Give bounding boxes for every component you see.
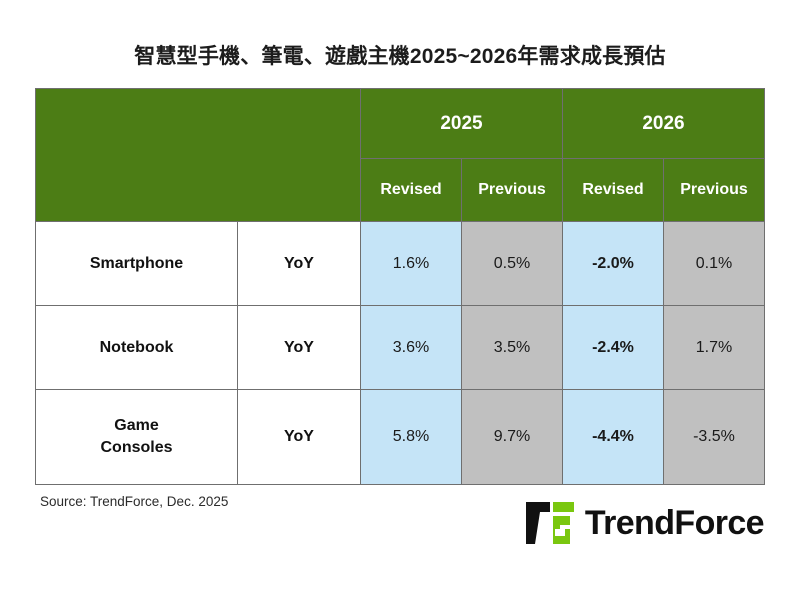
row-label-notebook: Notebook [36, 306, 238, 390]
forecast-table: 2025 2026 Revised Previous Revised Previ… [35, 88, 765, 485]
table-row: Game Consoles YoY 5.8% 9.7% -4.4% -3.5% [36, 390, 765, 485]
forecast-table-container: 2025 2026 Revised Previous Revised Previ… [35, 88, 764, 485]
row-metric-game-consoles: YoY [238, 390, 361, 485]
row-label-smartphone: Smartphone [36, 222, 238, 306]
page-title: 智慧型手機、筆電、遊戲主機2025~2026年需求成長預估 [0, 40, 800, 70]
header-2026-previous: Previous [664, 159, 765, 222]
cell-smartphone-2025-previous: 0.5% [462, 222, 563, 306]
cell-smartphone-2026-revised: -2.0% [563, 222, 664, 306]
source-note: Source: TrendForce, Dec. 2025 [40, 494, 228, 509]
cell-game-consoles-2026-revised: -4.4% [563, 390, 664, 485]
cell-notebook-2025-previous: 3.5% [462, 306, 563, 390]
cell-notebook-2025-revised: 3.6% [361, 306, 462, 390]
cell-game-consoles-2025-revised: 5.8% [361, 390, 462, 485]
cell-game-consoles-2025-previous: 9.7% [462, 390, 563, 485]
cell-notebook-2026-revised: -2.4% [563, 306, 664, 390]
table-row: Notebook YoY 3.6% 3.5% -2.4% 1.7% [36, 306, 765, 390]
header-row-years: 2025 2026 [36, 89, 765, 159]
header-2025-previous: Previous [462, 159, 563, 222]
cell-smartphone-2025-revised: 1.6% [361, 222, 462, 306]
trendforce-logo-mark-icon [524, 498, 576, 548]
trendforce-wordmark: TrendForce [585, 506, 764, 540]
row-metric-notebook: YoY [238, 306, 361, 390]
header-2025-revised: Revised [361, 159, 462, 222]
header-corner-blank [36, 89, 361, 222]
table-header: 2025 2026 Revised Previous Revised Previ… [36, 89, 765, 222]
table-body: Smartphone YoY 1.6% 0.5% -2.0% 0.1% Note… [36, 222, 765, 485]
row-label-game-consoles: Game Consoles [36, 390, 238, 485]
trendforce-logo: TrendForce [524, 498, 764, 548]
row-label-line-1: Game [114, 417, 158, 434]
header-year-2026: 2026 [563, 89, 765, 159]
slide-canvas: 智慧型手機、筆電、遊戲主機2025~2026年需求成長預估 2025 2026 … [0, 0, 800, 600]
row-metric-smartphone: YoY [238, 222, 361, 306]
cell-game-consoles-2026-previous: -3.5% [664, 390, 765, 485]
table-row: Smartphone YoY 1.6% 0.5% -2.0% 0.1% [36, 222, 765, 306]
header-2026-revised: Revised [563, 159, 664, 222]
cell-smartphone-2026-previous: 0.1% [664, 222, 765, 306]
header-year-2025: 2025 [361, 89, 563, 159]
cell-notebook-2026-previous: 1.7% [664, 306, 765, 390]
row-label-line-2: Consoles [100, 439, 172, 456]
